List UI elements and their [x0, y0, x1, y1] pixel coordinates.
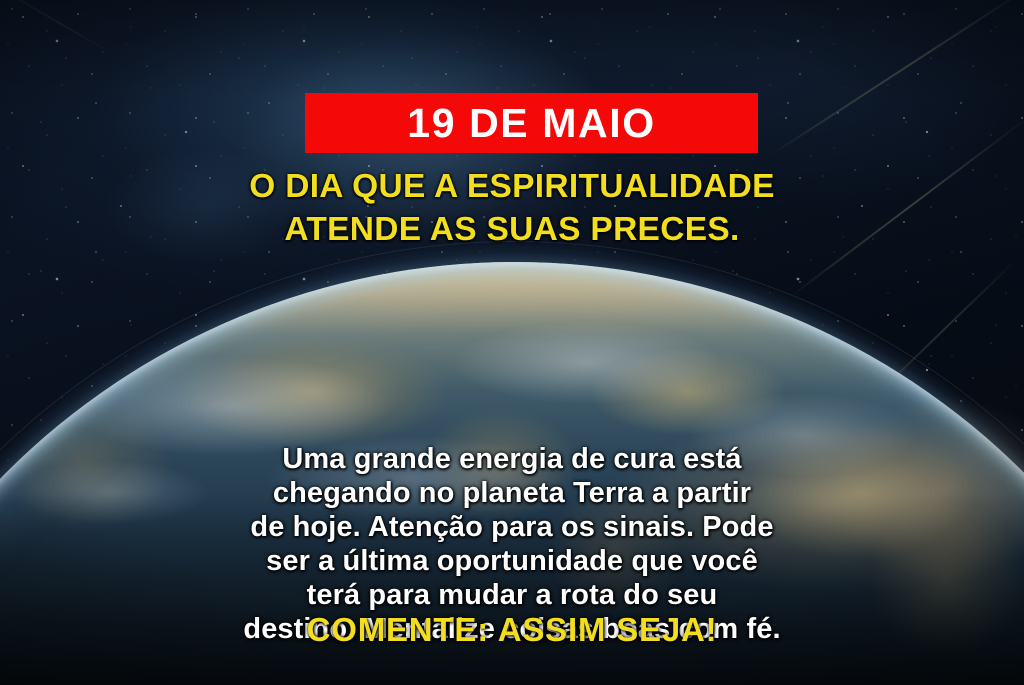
- call-to-action-text: COMENTE: ASSIM SEJA!: [0, 612, 1024, 648]
- date-banner: 19 DE MAIO: [305, 93, 758, 153]
- body-line-3: de hoje. Atenção para os sinais. Pode: [52, 511, 972, 545]
- body-line-2: chegando no planeta Terra a partir: [52, 477, 972, 511]
- body-line-5: terá para mudar a rota do seu: [52, 579, 972, 613]
- social-post-image: 19 DE MAIO O DIA QUE A ESPIRITUALIDADE A…: [0, 0, 1024, 685]
- body-line-1: Uma grande energia de cura está: [52, 443, 972, 477]
- body-line-4: ser a última oportunidade que você: [52, 545, 972, 579]
- headline-line-1: O DIA QUE A ESPIRITUALIDADE: [44, 166, 980, 209]
- text-overlay: 19 DE MAIO O DIA QUE A ESPIRITUALIDADE A…: [0, 0, 1024, 685]
- headline: O DIA QUE A ESPIRITUALIDADE ATENDE AS SU…: [0, 166, 1024, 251]
- headline-line-2: ATENDE AS SUAS PRECES.: [44, 209, 980, 252]
- date-banner-label: 19 DE MAIO: [407, 103, 655, 144]
